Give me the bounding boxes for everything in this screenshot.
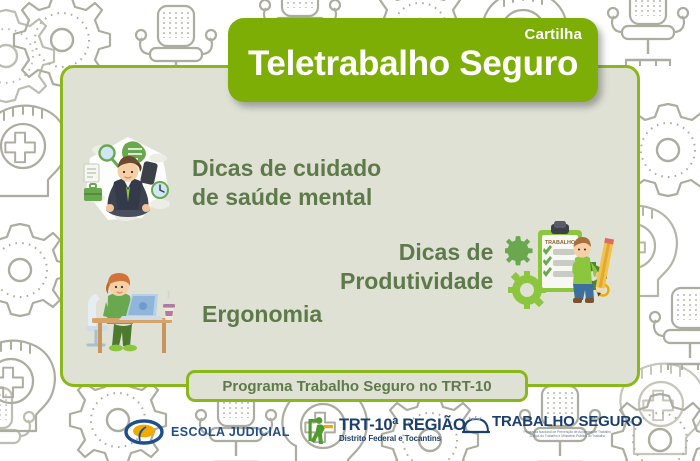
trabalho-seguro-title: TRABALHO SEGURO xyxy=(492,414,642,429)
title-box: Cartilha Teletrabalho Seguro xyxy=(228,18,598,102)
poster-canvas: Cartilha Teletrabalho Seguro xyxy=(0,0,700,461)
topic-saude-mental-label: Dicas de cuidado de saúde mental xyxy=(192,154,381,210)
trt-logo-line2: Distrito Federal e Tocantins xyxy=(339,435,466,443)
topic-produtividade[interactable]: Dicas de Produtividade xyxy=(340,218,617,315)
page-title: Teletrabalho Seguro xyxy=(248,46,578,83)
escola-judicial-mark xyxy=(124,417,164,447)
footer-logos: ESCOLA JUDICIAL TRT-10ª REGIÃO Distrito … xyxy=(0,411,700,457)
logo-trabalho-seguro[interactable]: TRABALHO SEGURO Programa Nacional de Pre… xyxy=(462,414,642,439)
topic-produtividade-label: Dicas de Produtividade xyxy=(340,238,493,294)
topic-saude-mental[interactable]: Dicas de cuidado de saúde mental xyxy=(80,134,381,231)
trt-logo-line1: TRT-10ª REGIÃO xyxy=(339,417,466,434)
program-badge: Programa Trabalho Seguro no TRT-10 xyxy=(186,370,528,402)
clipboard-caption: TRABALHO xyxy=(545,240,575,246)
program-badge-label: Programa Trabalho Seguro no TRT-10 xyxy=(222,378,491,395)
clipboard-gears-icon: TRABALHO xyxy=(505,218,617,315)
escola-judicial-label: ESCOLA JUDICIAL xyxy=(171,425,290,439)
meditating-person-icon xyxy=(80,134,176,231)
trabalho-seguro-sub2: Justiça do Trabalho e Ministério Público… xyxy=(492,435,642,438)
topic-ergonomia-label: Ergonomia xyxy=(202,300,322,328)
hard-hat-icon xyxy=(462,415,490,437)
person-at-desk-icon xyxy=(78,268,180,361)
trt-runner-mark xyxy=(308,415,334,445)
logo-trt-10-regiao[interactable]: TRT-10ª REGIÃO Distrito Federal e Tocant… xyxy=(308,415,466,445)
logo-escola-judicial[interactable]: ESCOLA JUDICIAL xyxy=(124,417,290,447)
topic-ergonomia[interactable]: Ergonomia xyxy=(78,268,322,361)
title-kicker: Cartilha xyxy=(525,26,582,43)
